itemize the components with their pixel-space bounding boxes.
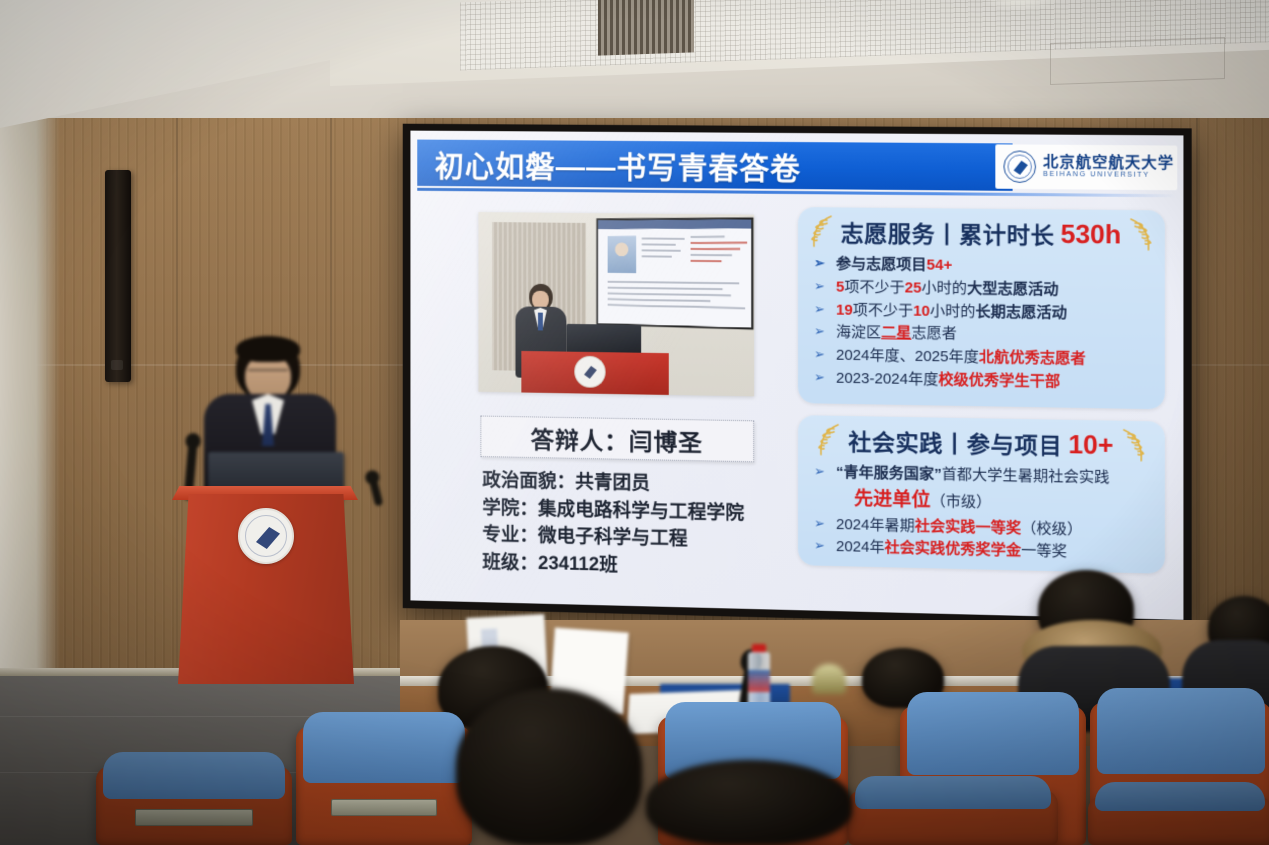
bullet-text: 2024年度、2025年度: [836, 347, 979, 366]
volunteer-service-card: 志愿服务丨累计时长530h 参与志愿项目54+5项不少于25小时的大型志愿活动1…: [798, 207, 1165, 409]
slide-title: 初心如磐——书写青春答卷: [435, 141, 801, 187]
seat-label-plate: [135, 809, 253, 826]
bullet-text: 长期志愿活动: [975, 303, 1067, 321]
bullet-text: 19: [836, 301, 853, 318]
bullet-text: 先进单位: [854, 488, 931, 511]
photo-inner-screen: [596, 217, 753, 330]
ceiling-access-panel: [1050, 37, 1225, 85]
glasses-icon: [248, 369, 288, 378]
photo-podium-emblem-icon: [574, 356, 605, 388]
bullet-text: 校级优秀学生干部: [938, 371, 1060, 390]
bullet-text: 海淀区: [836, 324, 881, 342]
auditorium-seat[interactable]: [296, 726, 472, 845]
projection-screen: 初心如磐——书写青春答卷 北京航空航天大学 BEIHANG UNIVERSITY: [410, 131, 1183, 620]
bullet-text: 54+: [927, 256, 953, 273]
logo-name-en: BEIHANG UNIVERSITY: [1043, 171, 1174, 179]
beihang-crest-icon: [1003, 150, 1036, 183]
podium-emblem-icon: [238, 508, 294, 564]
auditorium-seat[interactable]: [848, 790, 1058, 845]
bullet-text: 项不少于: [844, 278, 904, 296]
wall-speaker: [105, 170, 131, 382]
auditorium-seat[interactable]: [1088, 796, 1269, 845]
seat-label-plate: [331, 799, 437, 816]
presenter-name: 答辩人：闫博圣: [531, 420, 703, 458]
card-b-heading-text: 社会实践丨参与项目: [848, 423, 1062, 461]
ceiling-light: [980, 0, 1060, 12]
bullet-text: 大型志愿活动: [967, 280, 1058, 298]
logo-name-cn: 北京航空航天大学: [1043, 155, 1174, 172]
bullet-text: 2024年暑期: [836, 516, 915, 535]
water-bottle: [748, 644, 770, 710]
bullet-text: 2024年: [836, 538, 885, 556]
presenter-info-list: 政治面貌：共青团员 学院：集成电路科学与工程学院 专业：微电子科学与工程 班级：…: [482, 467, 808, 584]
bullet-text: “青年服务国家”: [836, 464, 942, 483]
bullet-text: 2023-2024年度: [836, 370, 938, 389]
bullet-text: 小时的: [922, 279, 967, 297]
bullet-text: 25: [905, 279, 922, 296]
laurel-right-icon: [1120, 428, 1147, 463]
bullet-text: 小时的: [930, 302, 976, 320]
card-a-bullets: 参与志愿项目54+5项不少于25小时的大型志愿活动19项不少于10小时的长期志愿…: [814, 253, 1165, 396]
bullet-text: 北航优秀志愿者: [979, 349, 1086, 368]
presentation-photo: [478, 212, 754, 396]
wall-light-wash: [0, 110, 60, 670]
projection-screen-bezel: 初心如磐——书写青春答卷 北京航空航天大学 BEIHANG UNIVERSITY: [403, 124, 1192, 629]
bullet-text: 志愿者: [911, 325, 956, 343]
wall-seam: [176, 96, 178, 741]
bullet-text: （校级）: [1021, 520, 1082, 539]
drinking-cup: [812, 664, 846, 694]
laurel-right-icon: [1127, 217, 1154, 252]
bullet-text: 二星: [881, 325, 911, 342]
bullet-text: 项不少于: [853, 301, 913, 319]
card-a-heading-number: 530h: [1061, 218, 1122, 250]
laurel-left-icon: [809, 214, 835, 248]
card-b-heading-number: 10+: [1068, 428, 1113, 460]
foreground-audience-head: [456, 688, 642, 845]
laurel-left-icon: [816, 422, 842, 457]
card-heading: 社会实践丨参与项目10+: [798, 419, 1165, 466]
foreground-audience-head: [646, 760, 852, 845]
air-vent-icon: [598, 0, 694, 56]
slide-title-bar: 初心如磐——书写青春答卷: [417, 140, 1012, 191]
bullet-text: 10: [913, 302, 930, 319]
bullet-text: 参与志愿项目: [836, 255, 927, 273]
card-b-bullets: “青年服务国家”首都大学生暑期社会实践先进单位（市级）2024年暑期社会实践一等…: [814, 461, 1165, 566]
bullet-text: 社会实践优秀奖学金: [885, 540, 1022, 560]
presenter-name-box: 答辩人：闫博圣: [480, 416, 754, 463]
bullet-text: 社会实践一等奖: [915, 517, 1021, 536]
presentation-slide: 初心如磐——书写青春答卷 北京航空航天大学 BEIHANG UNIVERSITY: [410, 131, 1183, 620]
photo-podium: [521, 351, 668, 395]
bullet-text: 一等奖: [1021, 543, 1067, 561]
bullet-item: 2023-2024年度校级优秀学生干部: [814, 367, 1165, 396]
lecture-hall-scene: 初心如磐——书写青春答卷 北京航空航天大学 BEIHANG UNIVERSITY: [0, 0, 1269, 845]
bullet-text: 首都大学生暑期社会实践: [942, 466, 1110, 486]
auditorium-seat[interactable]: [96, 766, 292, 845]
card-heading: 志愿服务丨累计时长530h: [798, 211, 1165, 255]
bullet-text: （市级）: [931, 493, 992, 511]
university-logo: 北京航空航天大学 BEIHANG UNIVERSITY: [995, 144, 1177, 190]
social-practice-card: 社会实践丨参与项目10+ “青年服务国家”首都大学生暑期社会实践先进单位（市级）…: [798, 415, 1165, 574]
card-a-heading-text: 志愿服务丨累计时长: [841, 214, 1055, 250]
